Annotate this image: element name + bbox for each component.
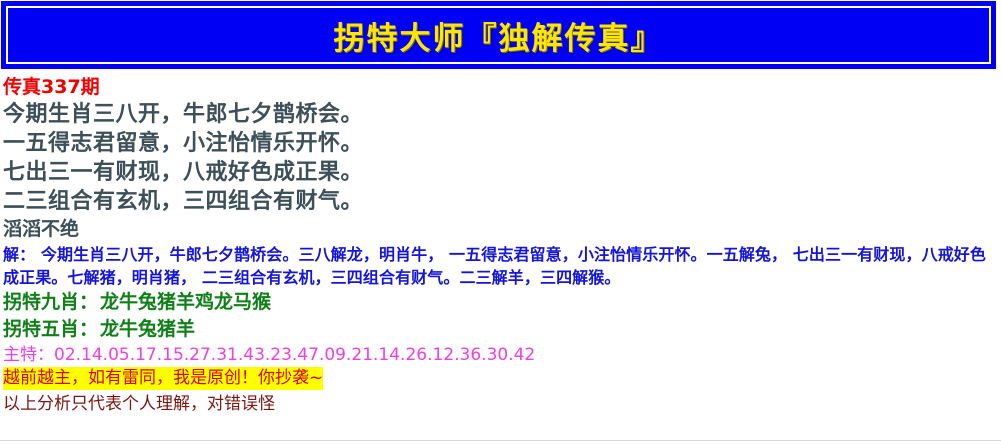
- numbers-value: 02.14.05.17.15.27.31.43.23.47.09.21.14.2…: [54, 345, 535, 365]
- issue-number: 传真337期: [0, 72, 1001, 100]
- poem-line-2: 一五得志君留意，小注怡情乐开怀。: [0, 129, 1001, 158]
- nine-zodiac-row: 拐特九肖：龙牛兔猪羊鸡龙马猴: [0, 289, 1001, 316]
- nine-zodiac-value: 龙牛兔猪羊鸡龙马猴: [100, 291, 271, 313]
- five-zodiac-value: 龙牛兔猪羊: [100, 318, 195, 340]
- bottom-divider: [0, 440, 1001, 441]
- disclaimer-text: 以上分析只代表个人理解，对错误怪: [0, 390, 1001, 416]
- poem-tagline: 滔滔不绝: [0, 216, 1001, 243]
- header-banner-border: 拐特大师『独解传真』: [6, 6, 991, 64]
- header-banner: 拐特大师『独解传真』: [1, 1, 996, 69]
- numbers-label: 主特：: [3, 345, 54, 365]
- poem-line-4: 二三组合有玄机，三四组合有财气。: [0, 187, 1001, 216]
- page-title: 拐特大师『独解传真』: [334, 13, 664, 58]
- poem-line-1: 今期生肖三八开，牛郎七夕鹊桥会。: [0, 100, 1001, 129]
- poem-line-3: 七出三一有财现，八戒好色成正果。: [0, 158, 1001, 187]
- originality-notice-row: 越前越主，如有雷同，我是原创！你抄袭~: [0, 367, 1001, 390]
- article-body: 传真337期 今期生肖三八开，牛郎七夕鹊桥会。 一五得志君留意，小注怡情乐开怀。…: [0, 72, 1001, 416]
- explanation-paragraph: 解： 今期生肖三八开，牛郎七夕鹊桥会。三八解龙，明肖牛， 一五得志君留意，小注怡…: [0, 243, 1001, 289]
- five-zodiac-label: 拐特五肖：: [3, 318, 98, 340]
- numbers-row: 主特：02.14.05.17.15.27.31.43.23.47.09.21.1…: [0, 343, 1001, 367]
- nine-zodiac-label: 拐特九肖：: [3, 291, 98, 313]
- five-zodiac-row: 拐特五肖：龙牛兔猪羊: [0, 316, 1001, 343]
- originality-notice: 越前越主，如有雷同，我是原创！你抄袭~: [3, 367, 323, 390]
